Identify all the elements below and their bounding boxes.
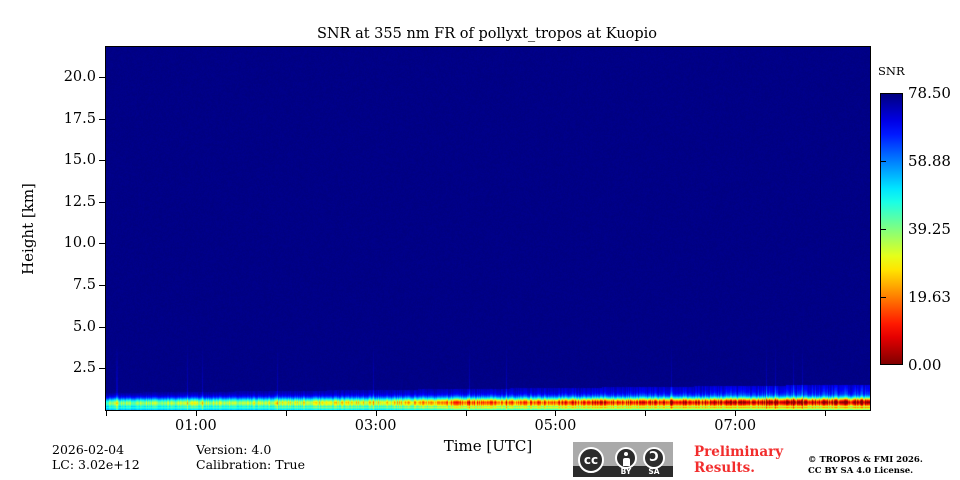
x-tick-label: 07:00	[714, 418, 756, 434]
colorbar-tick-label: 78.50	[908, 84, 951, 102]
footer-date: 2026-02-04	[52, 442, 140, 457]
x-tick	[645, 410, 646, 416]
x-tick	[466, 410, 467, 416]
copyright-block: © TROPOS & FMI 2026. CC BY SA 4.0 Licens…	[808, 455, 923, 477]
x-tick	[106, 410, 107, 416]
y-tick-label: 20.0	[64, 69, 96, 85]
creative-commons-badge-icon: cc Ɔ BY SA	[573, 442, 673, 477]
copyright-line-1: © TROPOS & FMI 2026.	[808, 455, 923, 466]
colorbar-tick-label: 0.00	[908, 356, 941, 374]
y-axis: Height [km] 2.55.07.510.012.515.017.520.…	[0, 46, 105, 411]
lidar-quicklook-figure: SNR at 355 nm FR of pollyxt_tropos at Ku…	[0, 0, 960, 480]
y-tick-label: 5.0	[73, 319, 96, 335]
x-tick	[735, 410, 736, 416]
heatmap-plot-area	[105, 46, 871, 411]
colorbar-title: SNR	[878, 64, 905, 78]
footer-lidar-constant: LC: 3.02e+12	[52, 457, 140, 472]
x-tick-label: 05:00	[535, 418, 577, 434]
page-title: SNR at 355 nm FR of pollyxt_tropos at Ku…	[105, 26, 869, 42]
preliminary-line-1: Preliminary	[694, 444, 783, 460]
preliminary-results-notice: Preliminary Results.	[694, 444, 783, 476]
x-tick	[555, 410, 556, 416]
footer-version-block: Version: 4.0 Calibration: True	[196, 442, 305, 472]
x-tick-label: 03:00	[355, 418, 397, 434]
footer-version: Version: 4.0	[196, 442, 305, 457]
x-tick	[376, 410, 377, 416]
cc-by-label: BY	[611, 466, 641, 477]
x-tick	[196, 410, 197, 416]
person-body	[623, 458, 630, 466]
x-tick	[286, 410, 287, 416]
y-tick-label: 7.5	[73, 277, 96, 293]
person-head	[624, 452, 628, 456]
footer-date-block: 2026-02-04 LC: 3.02e+12	[52, 442, 140, 472]
y-tick-label: 12.5	[64, 194, 96, 210]
colorbar-tick	[880, 229, 886, 230]
colorbar-tick	[880, 297, 886, 298]
x-tick-label: 01:00	[175, 418, 217, 434]
footer-calibration: Calibration: True	[196, 457, 305, 472]
colorbar-tick-label: 39.25	[908, 220, 951, 238]
colorbar-tick	[880, 161, 886, 162]
cc-logo-icon: cc	[578, 447, 604, 473]
copyright-line-2: CC BY SA 4.0 License.	[808, 466, 923, 477]
y-axis-label: Height [km]	[19, 139, 37, 319]
y-tick-label: 15.0	[64, 152, 96, 168]
preliminary-line-2: Results.	[694, 460, 783, 476]
cc-sa-label: SA	[639, 466, 669, 477]
y-tick-label: 10.0	[64, 235, 96, 251]
colorbar-tick-label: 19.63	[908, 288, 951, 306]
heatmap-canvas	[106, 47, 870, 410]
x-tick	[825, 410, 826, 416]
y-tick-label: 2.5	[73, 360, 96, 376]
colorbar-tick-label: 58.88	[908, 152, 951, 170]
y-tick-label: 17.5	[64, 111, 96, 127]
